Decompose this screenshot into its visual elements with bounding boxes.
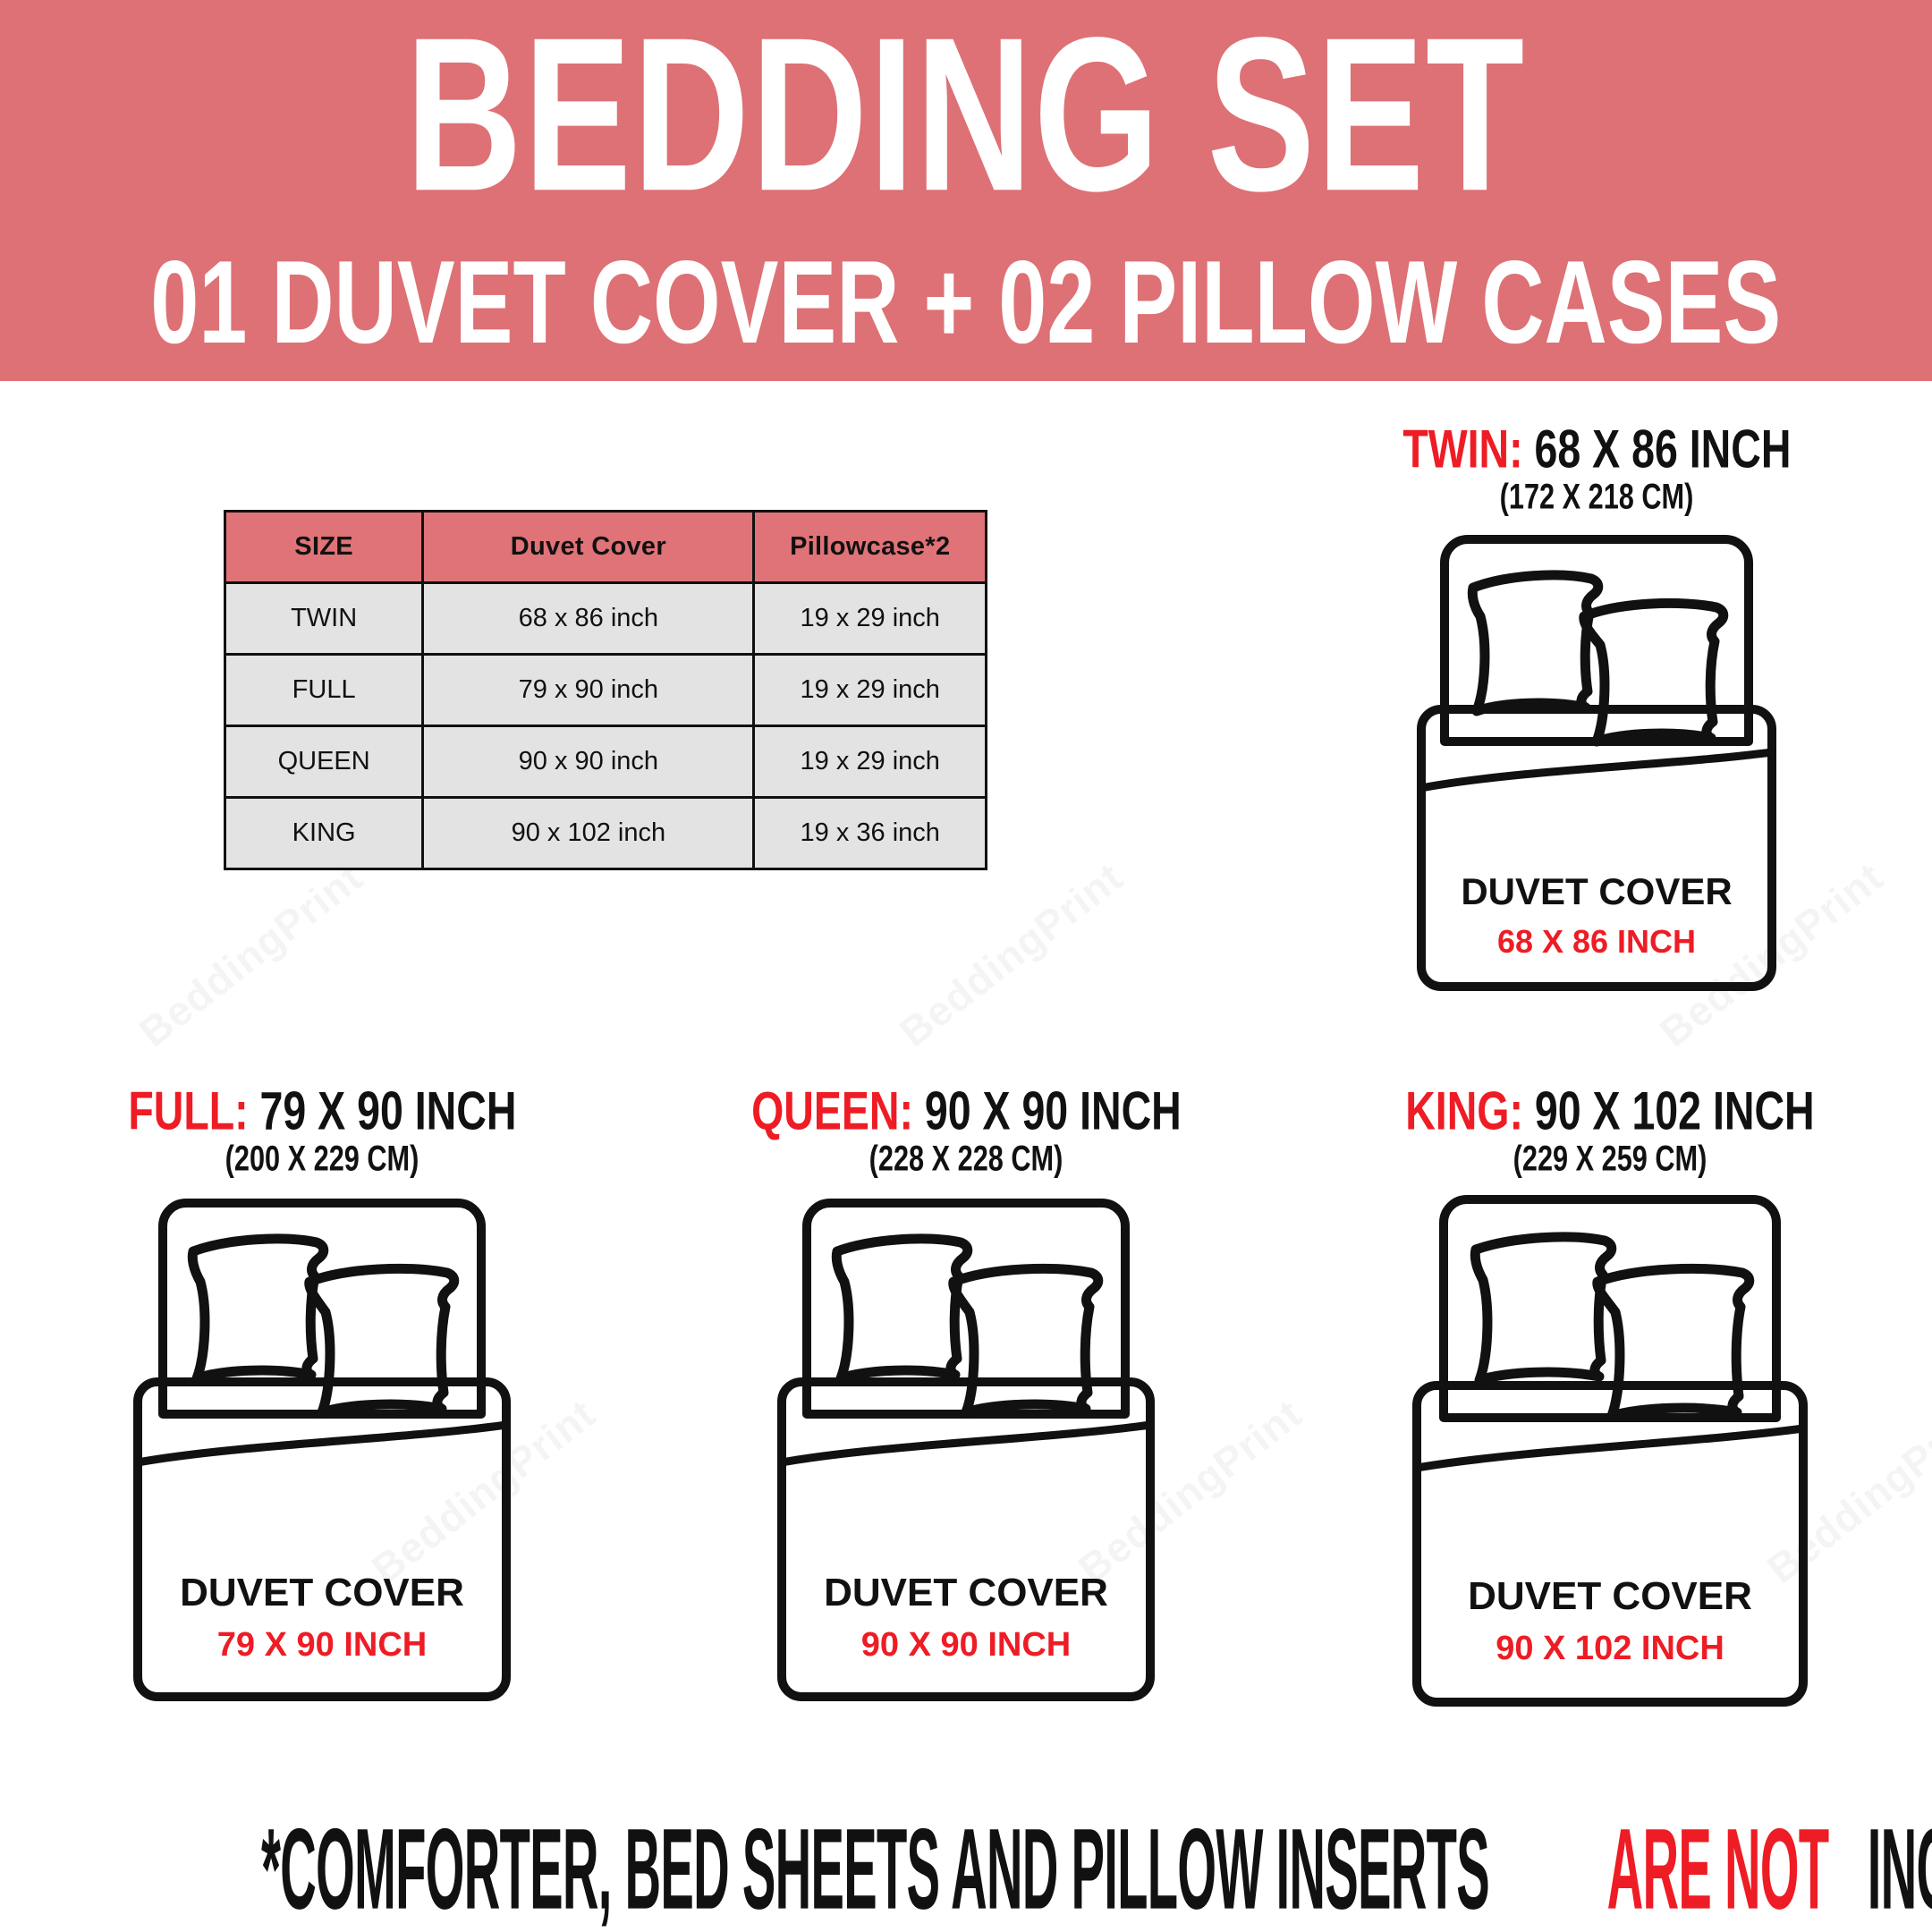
bed-illustration-wrap-full: DUVET COVER 79 X 90 INCH — [0, 1192, 644, 1711]
bed-label-queen: DUVET COVER — [824, 1571, 1108, 1614]
cell-duvet: 90 x 102 inch — [423, 798, 754, 869]
bed-label-size-full: 79 X 90 INCH — [217, 1626, 427, 1664]
page-title: BEDDING SET — [406, 5, 1527, 225]
bed-diagram-king: KING: 90 X 102 INCH (229 X 259 CM) DUVET… — [1288, 1084, 1932, 1716]
size-chart-page: BeddingPrint BeddingPrint BeddingPrint B… — [0, 0, 1932, 1932]
cell-pillow: 19 x 29 inch — [754, 583, 987, 655]
bed-label-size-twin: 68 X 86 INCH — [1497, 923, 1696, 960]
table-row: FULL 79 x 90 inch 19 x 29 inch — [225, 655, 987, 726]
bed-size-name-full: FULL — [128, 1080, 234, 1140]
header-banner: BEDDING SET 01 DUVET COVER + 02 PILLOW C… — [0, 0, 1932, 381]
bed-diagram-full: FULL: 79 X 90 INCH (200 X 229 CM) DUVET … — [0, 1084, 644, 1711]
bed-label-full: DUVET COVER — [180, 1571, 464, 1614]
bed-label-twin: DUVET COVER — [1461, 870, 1732, 912]
bed-heading-sep: : — [1510, 1080, 1535, 1140]
bed-heading-sep: : — [1509, 419, 1534, 479]
footer-text-part2: INCLUDED — [1868, 1804, 1932, 1932]
footer-text-highlight: ARE NOT — [1607, 1804, 1829, 1932]
watermark-text: BeddingPrint — [890, 852, 1131, 1056]
bed-illustration-wrap-twin: DUVET COVER 68 X 86 INCH — [1257, 530, 1932, 999]
bed-size-name-queen: QUEEN — [751, 1080, 899, 1140]
bed-size-inch-queen: 90 X 90 INCH — [924, 1080, 1181, 1140]
bed-size-cm-full: (200 X 229 CM) — [22, 1140, 622, 1176]
bed-heading-queen: QUEEN: 90 X 90 INCH (228 X 228 CM) — [644, 1084, 1288, 1173]
table-row: KING 90 x 102 inch 19 x 36 inch — [225, 798, 987, 869]
footer-text-part1: *COMFORTER, BED SHEETS AND PILLOW INSERT… — [261, 1804, 1489, 1932]
cell-size: KING — [225, 798, 423, 869]
table-row: QUEEN 90 x 90 inch 19 x 29 inch — [225, 726, 987, 798]
size-table: SIZE Duvet Cover Pillowcase*2 TWIN 68 x … — [224, 510, 987, 870]
bed-label-size-queen: 90 X 90 INCH — [861, 1626, 1071, 1664]
bed-diagram-queen: QUEEN: 90 X 90 INCH (228 X 228 CM) DUVET… — [644, 1084, 1288, 1711]
table-header-row: SIZE Duvet Cover Pillowcase*2 — [225, 512, 987, 583]
bed-label-king: DUVET COVER — [1468, 1574, 1752, 1618]
page-subtitle: 01 DUVET COVER + 02 PILLOW CASES — [151, 243, 1782, 361]
bed-heading-full: FULL: 79 X 90 INCH (200 X 229 CM) — [0, 1084, 644, 1173]
bed-heading-sep: : — [234, 1080, 259, 1140]
cell-duvet: 90 x 90 inch — [423, 726, 754, 798]
bed-size-inch-king: 90 X 102 INCH — [1535, 1080, 1815, 1140]
footer-disclaimer: *COMFORTER, BED SHEETS AND PILLOW INSERT… — [0, 1831, 1932, 1909]
bed-illustration-twin: DUVET COVER 68 X 86 INCH — [1409, 530, 1784, 999]
bed-size-cm-king: (229 X 259 CM) — [1310, 1140, 1910, 1176]
bed-illustration-queen: DUVET COVER 90 X 90 INCH — [769, 1192, 1163, 1711]
bed-illustration-wrap-king: DUVET COVER 90 X 102 INCH — [1288, 1192, 1932, 1716]
cell-duvet: 68 x 86 inch — [423, 583, 754, 655]
table-header-duvet: Duvet Cover — [423, 512, 754, 583]
table-header-pillow: Pillowcase*2 — [754, 512, 987, 583]
cell-size: FULL — [225, 655, 423, 726]
bed-size-inch-full: 79 X 90 INCH — [259, 1080, 516, 1140]
table-header-size: SIZE — [225, 512, 423, 583]
cell-duvet: 79 x 90 inch — [423, 655, 754, 726]
bed-size-inch-twin: 68 X 86 INCH — [1534, 419, 1791, 479]
bed-illustration-full: DUVET COVER 79 X 90 INCH — [125, 1192, 519, 1711]
bed-heading-king: KING: 90 X 102 INCH (229 X 259 CM) — [1288, 1084, 1932, 1173]
bed-size-cm-queen: (228 X 228 CM) — [666, 1140, 1266, 1176]
bed-illustration-king: DUVET COVER 90 X 102 INCH — [1404, 1192, 1816, 1716]
cell-pillow: 19 x 36 inch — [754, 798, 987, 869]
bed-size-cm-twin: (172 X 218 CM) — [1281, 479, 1913, 514]
cell-pillow: 19 x 29 inch — [754, 726, 987, 798]
bed-heading-sep: : — [899, 1080, 924, 1140]
bed-heading-twin: TWIN: 68 X 86 INCH (172 X 218 CM) — [1257, 422, 1932, 511]
table-row: TWIN 68 x 86 inch 19 x 29 inch — [225, 583, 987, 655]
bed-size-name-king: KING — [1405, 1080, 1509, 1140]
bed-label-size-king: 90 X 102 INCH — [1496, 1630, 1724, 1667]
bed-size-name-twin: TWIN — [1402, 419, 1509, 479]
watermark-text: BeddingPrint — [130, 852, 371, 1056]
cell-pillow: 19 x 29 inch — [754, 655, 987, 726]
cell-size: TWIN — [225, 583, 423, 655]
bed-illustration-wrap-queen: DUVET COVER 90 X 90 INCH — [644, 1192, 1288, 1711]
cell-size: QUEEN — [225, 726, 423, 798]
bed-diagram-twin: TWIN: 68 X 86 INCH (172 X 218 CM) — [1257, 422, 1932, 999]
